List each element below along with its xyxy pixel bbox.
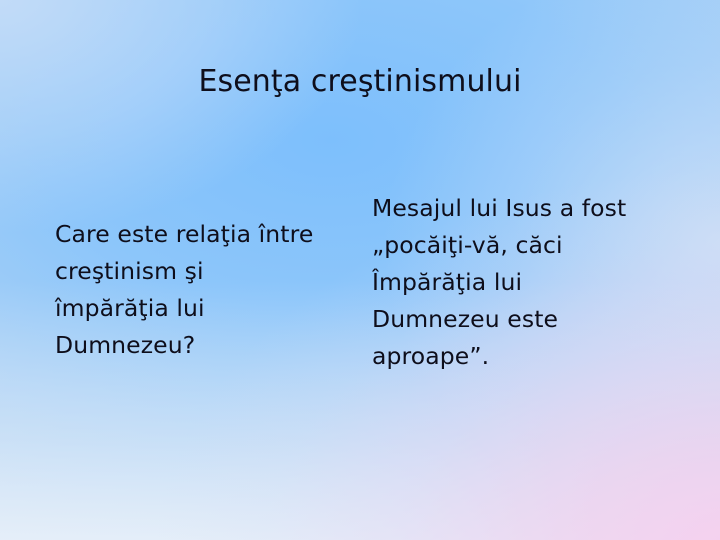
- left-text-line: împărăţia lui: [55, 290, 355, 327]
- left-text-line: Care este relaţia între: [55, 216, 355, 253]
- left-text-line: Dumnezeu?: [55, 327, 355, 364]
- slide-content: Esenţa creştinismului Care este relaţia …: [0, 0, 720, 540]
- right-text-line: aproape”.: [372, 338, 672, 375]
- right-text-block: Mesajul lui Isus a fost „pocăiţi-vă, căc…: [372, 190, 672, 375]
- left-text-block: Care este relaţia între creştinism şi îm…: [55, 216, 355, 364]
- right-text-line: Dumnezeu este: [372, 301, 672, 338]
- slide-title: Esenţa creştinismului: [0, 63, 720, 101]
- left-text-line: creştinism şi: [55, 253, 355, 290]
- presentation-slide: Esenţa creştinismului Care este relaţia …: [0, 0, 720, 540]
- right-text-line: Împărăţia lui: [372, 264, 672, 301]
- right-text-line: „pocăiţi-vă, căci: [372, 227, 672, 264]
- right-text-line: Mesajul lui Isus a fost: [372, 190, 672, 227]
